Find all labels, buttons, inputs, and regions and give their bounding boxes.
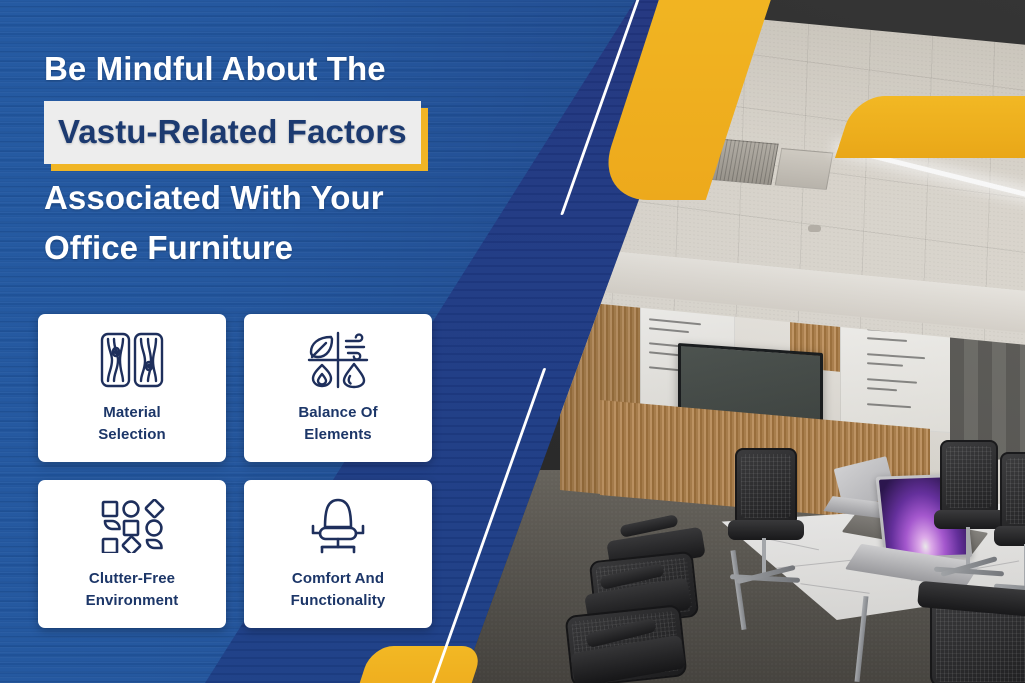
page-title: Be Mindful About The Vastu-Related Facto… — [44, 44, 490, 274]
feature-card-label: Comfort And Functionality — [291, 568, 386, 612]
feature-card-balance-of-elements[interactable]: Balance Of Elements — [244, 314, 432, 462]
card-label-line-1: Material — [103, 404, 161, 421]
card-label-line-1: Comfort And — [292, 570, 384, 587]
feature-card-label: Material Selection — [98, 402, 166, 446]
card-label-line-1: Clutter-Free — [89, 570, 175, 587]
feature-card-grid: Material Selection — [38, 314, 448, 628]
content-column: Be Mindful About The Vastu-Related Facto… — [0, 0, 520, 683]
infographic-poster: Be Mindful About The Vastu-Related Facto… — [0, 0, 1025, 683]
headline-line-4: Office Furniture — [44, 223, 490, 273]
headline-line-3: Associated With Your — [44, 173, 490, 223]
card-label-line-1: Balance Of — [298, 404, 377, 421]
photo-smoke-detector — [808, 225, 821, 232]
feature-card-material-selection[interactable]: Material Selection — [38, 314, 226, 462]
headline-line-1: Be Mindful About The — [44, 44, 490, 94]
office-chair-icon — [308, 495, 368, 557]
assorted-shapes-grid-icon — [99, 495, 165, 557]
wood-planks-icon — [99, 329, 165, 391]
feature-card-label: Clutter-Free Environment — [86, 568, 179, 612]
four-elements-icon — [305, 329, 371, 391]
feature-card-clutter-free-environment[interactable]: Clutter-Free Environment — [38, 480, 226, 628]
headline-highlight: Vastu-Related Factors — [44, 101, 421, 164]
yellow-accent-top-right — [835, 96, 1025, 158]
card-label-line-2: Elements — [304, 426, 372, 443]
feature-card-comfort-and-functionality[interactable]: Comfort And Functionality — [244, 480, 432, 628]
photo-ceiling-diffuser — [775, 148, 834, 190]
card-label-line-2: Environment — [86, 592, 179, 609]
feature-card-label: Balance Of Elements — [298, 402, 377, 446]
card-label-line-2: Selection — [98, 426, 166, 443]
card-label-line-2: Functionality — [291, 592, 386, 609]
